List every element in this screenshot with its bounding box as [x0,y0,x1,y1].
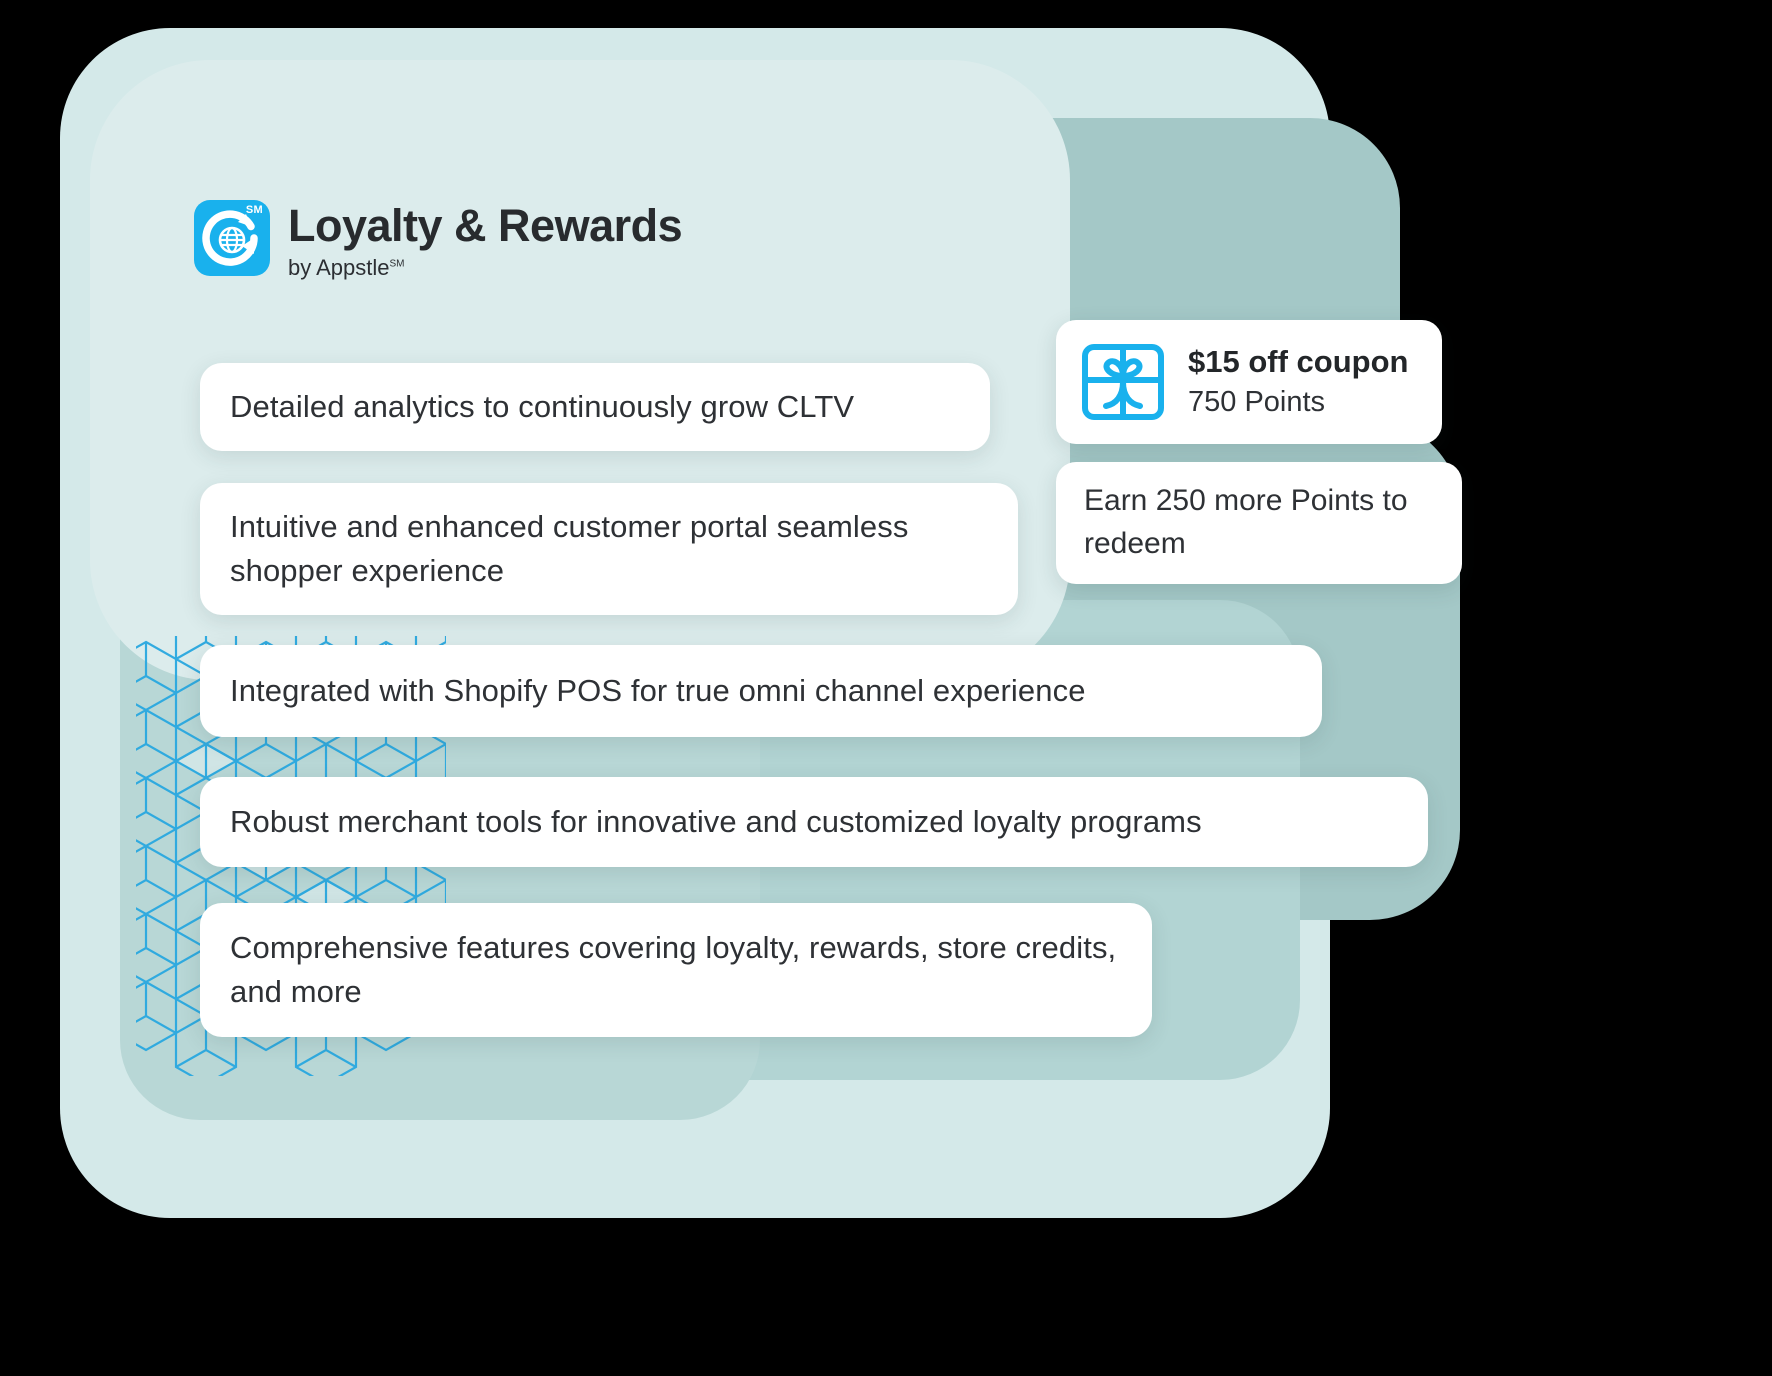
feature-card-text: Integrated with Shopify POS for true omn… [230,669,1086,713]
logo-service-mark: SM [246,204,263,216]
feature-card: Intuitive and enhanced customer portal s… [200,483,1018,615]
brand-byline-service-mark: SM [390,259,405,270]
promo-graphic: SM Loyalty & Rewards by AppstleSM Detail… [0,0,1772,1376]
appstle-logo-icon: SM [194,200,270,276]
brand-header: SM Loyalty & Rewards by AppstleSM [194,200,682,281]
feature-card-text: Intuitive and enhanced customer portal s… [230,505,988,593]
coupon-points: 750 Points [1188,385,1408,420]
gift-icon [1080,342,1166,422]
feature-card: Comprehensive features covering loyalty,… [200,903,1152,1037]
feature-card-text: Robust merchant tools for innovative and… [230,800,1202,844]
coupon-title: $15 off coupon [1188,343,1408,381]
feature-card-text: Comprehensive features covering loyalty,… [230,926,1122,1014]
page-title: Loyalty & Rewards [288,202,682,249]
brand-byline: by AppstleSM [288,255,682,281]
coupon-reward-card: $15 off coupon 750 Points [1056,320,1442,444]
feature-card: Integrated with Shopify POS for true omn… [200,645,1322,737]
feature-card: Robust merchant tools for innovative and… [200,777,1428,867]
earn-points-card: Earn 250 more Points to redeem [1056,462,1462,584]
feature-card-text: Detailed analytics to continuously grow … [230,385,854,429]
feature-card: Detailed analytics to continuously grow … [200,363,990,451]
earn-points-text: Earn 250 more Points to redeem [1084,480,1434,565]
brand-byline-text: by Appstle [288,255,390,280]
